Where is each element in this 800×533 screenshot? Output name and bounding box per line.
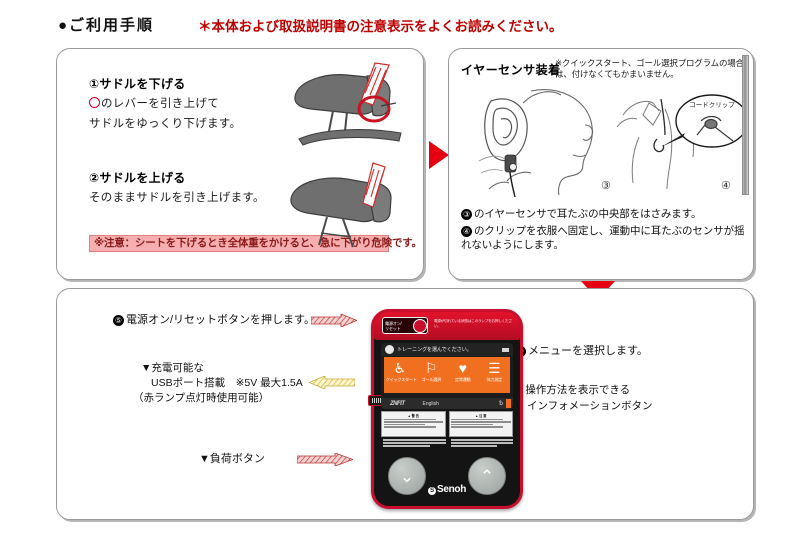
info-callout-line1: ▼操作方法を表示できる <box>515 383 630 398</box>
saddle-step2-heading: ②サドルを上げる <box>89 169 186 186</box>
senoh-brand-text: Senoh <box>437 484 466 495</box>
flag-icon: ⚐ <box>417 360 445 376</box>
menu-label-fitness-test: 体力測定 <box>480 377 508 383</box>
saddle-step1-line1: のレバーを引き上げて <box>89 95 219 111</box>
saddle-step1-line2: サドルをゆっくり下げます。 <box>89 115 241 131</box>
info-button-indicator[interactable] <box>506 399 511 408</box>
menu-item-goal-select[interactable]: ⚐ ゴール選択 <box>417 360 445 383</box>
device-bullet-text <box>383 439 513 449</box>
power-step-badge: ⑤ <box>113 315 124 326</box>
warning-label-right-header: ▲ 注 意 <box>451 413 511 418</box>
load-button-callout: ▼負荷ボタン <box>199 452 265 467</box>
saddle-instructions-panel: ①サドルを下げる のレバーを引き上げて サドルをゆっくり下げます。 ②サドルを上… <box>56 48 424 280</box>
power-reset-button[interactable]: 電源オン/ リセット <box>382 317 428 334</box>
saddle-step2-line1: そのままサドルを引き上げます。 <box>89 189 265 205</box>
page-title: ●ご利用手順 <box>58 14 154 35</box>
flow-arrow-right-icon <box>429 141 449 169</box>
screen-brand-logo: ZNFIT <box>390 401 405 407</box>
ear-instruction-line-2: ④のクリップを衣服へ固定し、運動中に耳たぶのセンサが揺れないようにします。 <box>461 224 745 252</box>
bluetooth-icon: ␢ <box>499 400 503 407</box>
power-note-text: 電源が切れている状態はこのランプをお押しください。 <box>434 319 512 328</box>
side-scroll-decoration <box>742 55 749 195</box>
warning-label-right: ▲ 注 意 <box>449 411 514 437</box>
heart-icon: ♥ <box>449 360 477 376</box>
ear-step3-badge: ③ <box>461 209 472 220</box>
screen-status-icon <box>502 348 509 352</box>
chevron-down-icon: ⌄ <box>400 468 414 485</box>
device-screen[interactable]: トレーニングを選んでください。 ♿ クイックスタート ⚐ ゴール選択 ♥ 定常運… <box>381 343 513 409</box>
load-callout-arrow-icon <box>297 453 353 466</box>
list-icon: ☰ <box>480 360 508 376</box>
cord-clip-illustration: コードクリップ ④ <box>609 85 749 197</box>
ear-sensor-panel: イヤーセンサ装着 ※クイックスタート、ゴール選択プログラムの場合は、付けなくても… <box>448 48 754 280</box>
ear-figure-4-number: ④ <box>721 180 731 192</box>
menu-callout: ⑥メニューを選択します。 <box>515 344 648 359</box>
warning-label-left-header: ▲ 警 告 <box>384 413 444 418</box>
menu-item-quick-start[interactable]: ♿ クイックスタート <box>386 360 414 383</box>
ear-step4-badge: ④ <box>461 226 472 237</box>
senoh-brand: SSenoh <box>371 484 523 495</box>
ear-instruction-line-1: ③のイヤーセンサで耳たぶの中央部をはさみます。 <box>461 207 745 221</box>
cord-clip-label-text: コードクリップ <box>689 101 735 109</box>
ear-panel-title: イヤーセンサ装着 <box>461 61 561 78</box>
saddle-raise-illustration <box>281 157 411 253</box>
ear-sensor-head-illustration: ③ <box>473 85 623 197</box>
power-indicator-icon <box>413 319 427 333</box>
device-top-band: 電源オン/ リセット 電源が切れている状態はこのランプをお押しください。 <box>374 312 520 340</box>
saddle-step1-heading: ①サドルを下げる <box>89 75 186 92</box>
power-chip-line2: リセット <box>385 326 401 331</box>
saddle-lower-illustration <box>281 59 411 155</box>
screen-prompt: トレーニングを選んでください。 <box>397 346 472 353</box>
usb-callout-line2: USBポート搭載 ※5V 最大1.5A <box>151 376 303 391</box>
menu-label-steady-exercise: 定常運動 <box>449 377 477 383</box>
senoh-logo-icon: S <box>428 487 436 495</box>
info-callout-line2: インフォメーションボタン <box>527 399 652 414</box>
menu-item-steady-exercise[interactable]: ♥ 定常運動 <box>449 360 477 383</box>
console-instructions-panel: ⑤電源オン/リセットボタンを押します。 ▼充電可能な USBポート搭載 ※5V … <box>56 288 754 520</box>
screen-user-icon <box>385 345 394 354</box>
screen-header-bar: トレーニングを選んでください。 <box>381 343 513 356</box>
quick-start-icon: ♿ <box>386 360 414 376</box>
language-selector[interactable]: English <box>423 401 439 407</box>
page-header: ●ご利用手順 ＊本体および取扱説明書の注意表示をよくお読みください。 <box>58 14 758 40</box>
caution-notice: ＊本体および取扱説明書の注意表示をよくお読みください。 <box>198 15 563 35</box>
lever-ring-icon <box>89 97 100 108</box>
ear-panel-note: ※クイックスタート、ゴール選択プログラムの場合は、付けなくてもかまいません。 <box>555 58 745 80</box>
power-button-callout: ⑤電源オン/リセットボタンを押します。 <box>113 313 315 328</box>
menu-label-quick-start: クイックスタート <box>386 377 414 383</box>
screen-menu-grid: ♿ クイックスタート ⚐ ゴール選択 ♥ 定常運動 ☰ 体力測定 <box>384 357 510 393</box>
console-device: 電源オン/ リセット 電源が切れている状態はこのランプをお押しください。 トレー… <box>371 309 523 509</box>
screen-footer-bar: ZNFIT English ␢ <box>381 398 513 409</box>
usb-callout-line3: （赤ランプ点灯時使用可能） <box>133 391 269 406</box>
menu-label-goal-select: ゴール選択 <box>417 377 445 383</box>
menu-item-fitness-test[interactable]: ☰ 体力測定 <box>480 360 508 383</box>
usb-callout-arrow-icon <box>309 376 355 389</box>
usb-callout-line1: ▼充電可能な <box>141 361 204 376</box>
device-warning-labels: ▲ 警 告 ▲ 注 意 <box>381 411 513 437</box>
warning-label-left: ▲ 警 告 <box>381 411 446 437</box>
chevron-up-icon: ⌃ <box>480 468 494 485</box>
ear-instructions-body: ③のイヤーセンサで耳たぶの中央部をはさみます。 ④のクリップを衣服へ固定し、運動… <box>461 207 745 255</box>
power-callout-arrow-icon <box>311 314 357 327</box>
